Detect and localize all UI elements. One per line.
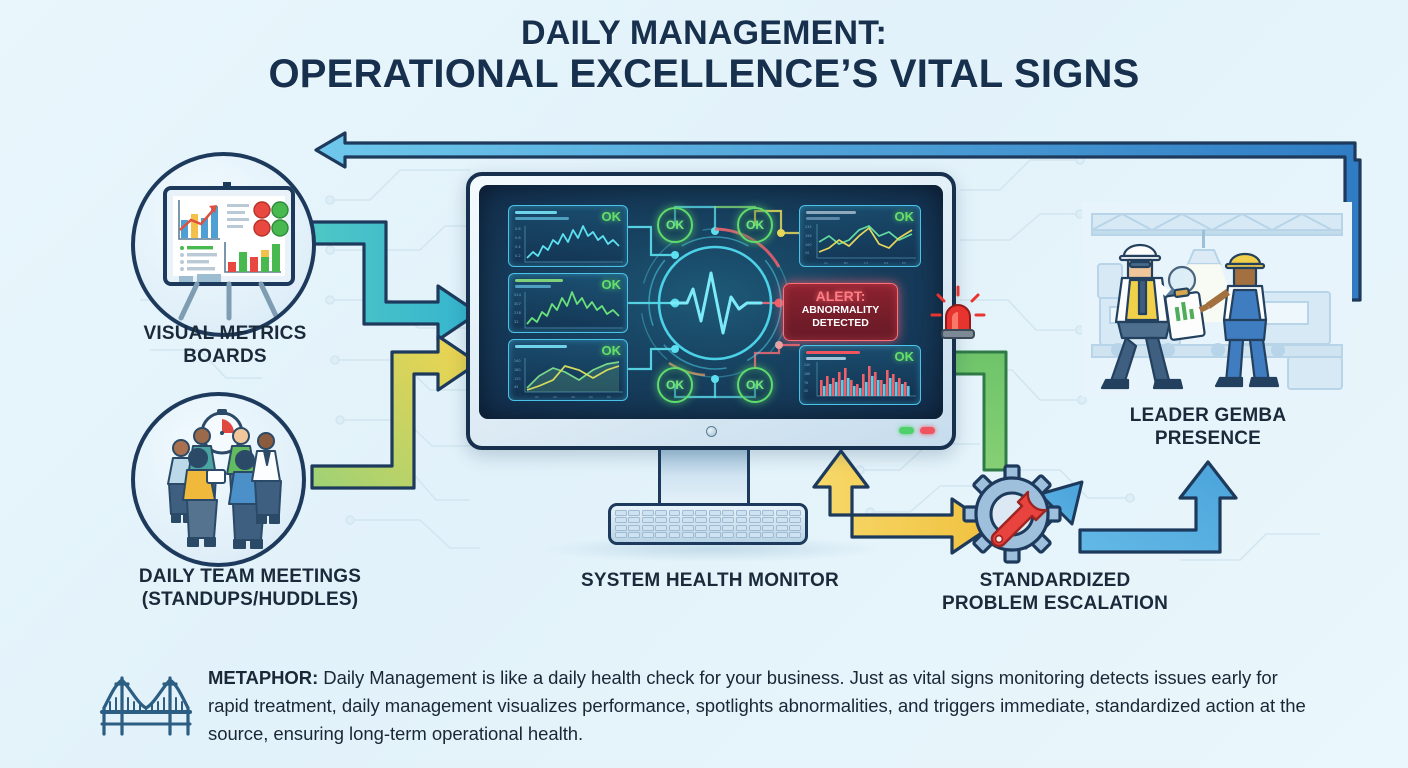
status-led-green: [899, 427, 914, 434]
alert-abnormality-detected[interactable]: ALERT: ABNORMALITY DETECTED: [783, 283, 898, 341]
node-leader-gemba-presence[interactable]: [1082, 202, 1352, 397]
label-gemba-line2: PRESENCE: [1078, 428, 1338, 451]
infographic-canvas: DAILY MANAGEMENT: OPERATIONAL EXCELLENCE…: [0, 0, 1408, 768]
panel-mid-left-chart: 52430721832: [509, 274, 628, 333]
alert-title: ALERT:: [784, 289, 897, 304]
monitor-stand: [658, 450, 750, 506]
node-daily-team-meetings[interactable]: [131, 392, 306, 567]
svg-text:01: 01: [535, 395, 539, 399]
ok-node-bottom-right: OK: [737, 367, 773, 403]
label-visual-metrics-boards: VISUAL METRICS BOARDS: [100, 323, 350, 369]
keyboard-icon: [608, 503, 808, 545]
status-leds: [899, 427, 935, 434]
label-gemba-line1: LEADER GEMBA: [1078, 405, 1338, 428]
label-system-health-monitor: SYSTEM HEALTH MONITOR: [500, 570, 920, 593]
label-daily-team-meetings: DAILY TEAM MEETINGS (STANDUPS/HUDDLES): [85, 566, 415, 612]
svg-text:80: 80: [607, 395, 611, 399]
metaphor-body: Daily Management is like a daily health …: [208, 667, 1306, 744]
arrow-to-gemba: [1080, 462, 1236, 552]
panel-top-right[interactable]: OK 23315610020 A1B2C3D4E5: [799, 205, 921, 267]
label-team-meetings-line1: DAILY TEAM MEETINGS: [85, 566, 415, 589]
label-escalation-line2: PROBLEM ESCALATION: [905, 593, 1205, 616]
label-standardized-problem-escalation: STANDARDIZED PROBLEM ESCALATION: [905, 570, 1205, 616]
panel-bottom-left[interactable]: OK 24018012045 0120406080: [508, 339, 628, 401]
ok-node-top-left: OK: [657, 207, 693, 243]
svg-text:180: 180: [514, 368, 520, 372]
panel-bottom-left-chart: 24018012045 0120406080: [509, 340, 628, 401]
svg-text:E5: E5: [902, 261, 906, 265]
panel-top-right-chart: 23315610020 A1B2C3D4E5: [800, 206, 921, 267]
metrics-board-icon: [135, 156, 316, 337]
metaphor-text: METAPHOR: Daily Management is like a dai…: [208, 664, 1312, 748]
svg-text:186: 186: [804, 372, 810, 376]
bridge-icon: [100, 668, 192, 740]
title-line-2: OPERATIONAL EXCELLENCE’S VITAL SIGNS: [0, 52, 1408, 97]
svg-text:120: 120: [514, 377, 520, 381]
svg-text:32: 32: [514, 320, 519, 324]
svg-text:D4: D4: [884, 261, 888, 265]
label-monitor-text: SYSTEM HEALTH MONITOR: [500, 570, 920, 593]
gear-wrench-icon[interactable]: [960, 462, 1064, 566]
factory-walk-icon: [1082, 202, 1352, 397]
svg-text:A1: A1: [824, 261, 828, 265]
title-line-1: DAILY MANAGEMENT:: [0, 14, 1408, 52]
metaphor-label: METAPHOR:: [208, 667, 318, 688]
svg-text:78: 78: [804, 381, 808, 385]
alarm-siren-icon: [930, 285, 986, 347]
camera-icon: [706, 426, 717, 437]
alert-line-2: ABNORMALITY: [784, 304, 897, 317]
svg-text:45: 45: [514, 385, 518, 389]
team-huddle-icon: [135, 396, 306, 567]
page-title: DAILY MANAGEMENT: OPERATIONAL EXCELLENCE…: [0, 14, 1408, 97]
svg-text:240: 240: [804, 363, 810, 367]
svg-text:0.6: 0.6: [515, 236, 521, 240]
svg-text:240: 240: [514, 359, 520, 363]
svg-text:156: 156: [805, 234, 811, 238]
node-visual-metrics-boards[interactable]: [131, 152, 316, 337]
svg-text:218: 218: [514, 311, 522, 315]
metaphor-footer: METAPHOR: Daily Management is like a dai…: [0, 664, 1408, 748]
monitor-screen[interactable]: OK OK OK OK OK 0.80.60.40.2: [479, 185, 943, 419]
panel-top-left[interactable]: OK 0.80.60.40.2: [508, 205, 628, 267]
label-leader-gemba-presence: LEADER GEMBA PRESENCE: [1078, 405, 1338, 451]
svg-text:0.2: 0.2: [515, 254, 521, 258]
svg-text:20: 20: [805, 251, 809, 255]
ok-node-top-right: OK: [737, 207, 773, 243]
status-led-red: [920, 427, 935, 434]
svg-text:B2: B2: [844, 261, 848, 265]
panel-bottom-right[interactable]: OK 2401867820: [799, 345, 921, 405]
panel-bottom-right-chart: 2401867820: [800, 346, 921, 405]
label-escalation-line1: STANDARDIZED: [905, 570, 1205, 593]
monitor-bezel: [479, 419, 943, 444]
alert-line-3: DETECTED: [784, 317, 897, 330]
svg-text:0.8: 0.8: [515, 227, 521, 231]
svg-text:40: 40: [571, 395, 575, 399]
panel-top-left-chart: 0.80.60.40.2: [509, 206, 628, 267]
system-health-monitor[interactable]: OK OK OK OK OK 0.80.60.40.2: [466, 172, 956, 450]
svg-text:C3: C3: [864, 261, 868, 265]
svg-text:20: 20: [804, 389, 808, 393]
label-visual-metrics-line2: BOARDS: [100, 346, 350, 369]
svg-text:524: 524: [514, 293, 522, 297]
svg-text:233: 233: [805, 225, 811, 229]
svg-text:60: 60: [589, 395, 593, 399]
svg-text:0.4: 0.4: [515, 245, 521, 249]
panel-mid-left[interactable]: OK 52430721832: [508, 273, 628, 333]
svg-text:100: 100: [805, 243, 811, 247]
svg-text:20: 20: [553, 395, 557, 399]
ok-node-bottom-left: OK: [657, 367, 693, 403]
label-visual-metrics-line1: VISUAL METRICS: [100, 323, 350, 346]
label-team-meetings-line2: (STANDUPS/HUDDLES): [85, 589, 415, 612]
svg-text:307: 307: [514, 302, 521, 306]
